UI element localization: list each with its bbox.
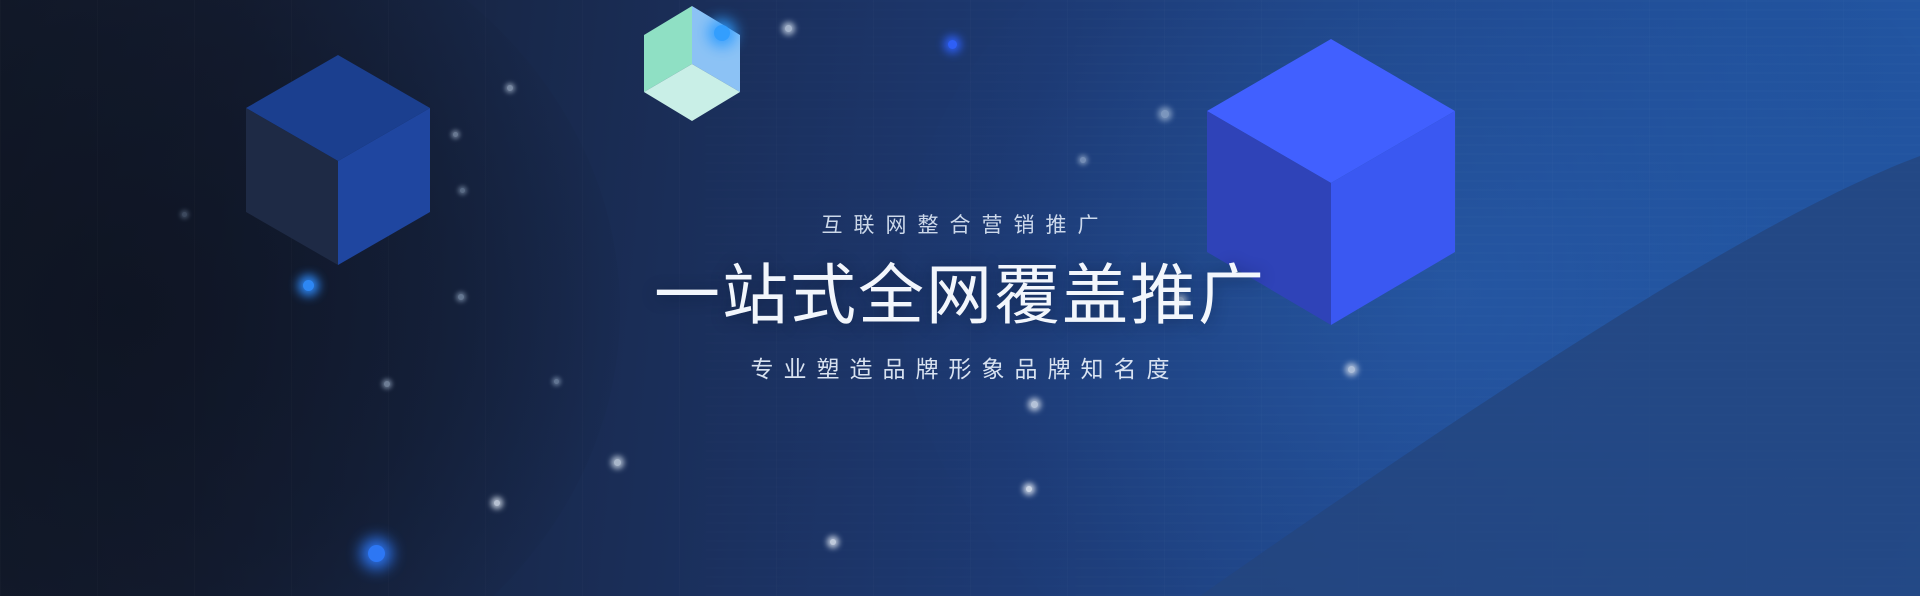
hero-headline: 一站式全网覆盖推广: [654, 262, 1266, 328]
hero-eyebrow: 互联网整合营销推广: [811, 215, 1110, 236]
hero-copy-block: 互联网整合营销推广 一站式全网覆盖推广 专业塑造品牌形象品牌知名度: [0, 0, 1920, 596]
hero-banner: 互联网整合营销推广 一站式全网覆盖推广 专业塑造品牌形象品牌知名度: [0, 0, 1920, 596]
hero-subline: 专业塑造品牌形象品牌知名度: [741, 358, 1180, 381]
